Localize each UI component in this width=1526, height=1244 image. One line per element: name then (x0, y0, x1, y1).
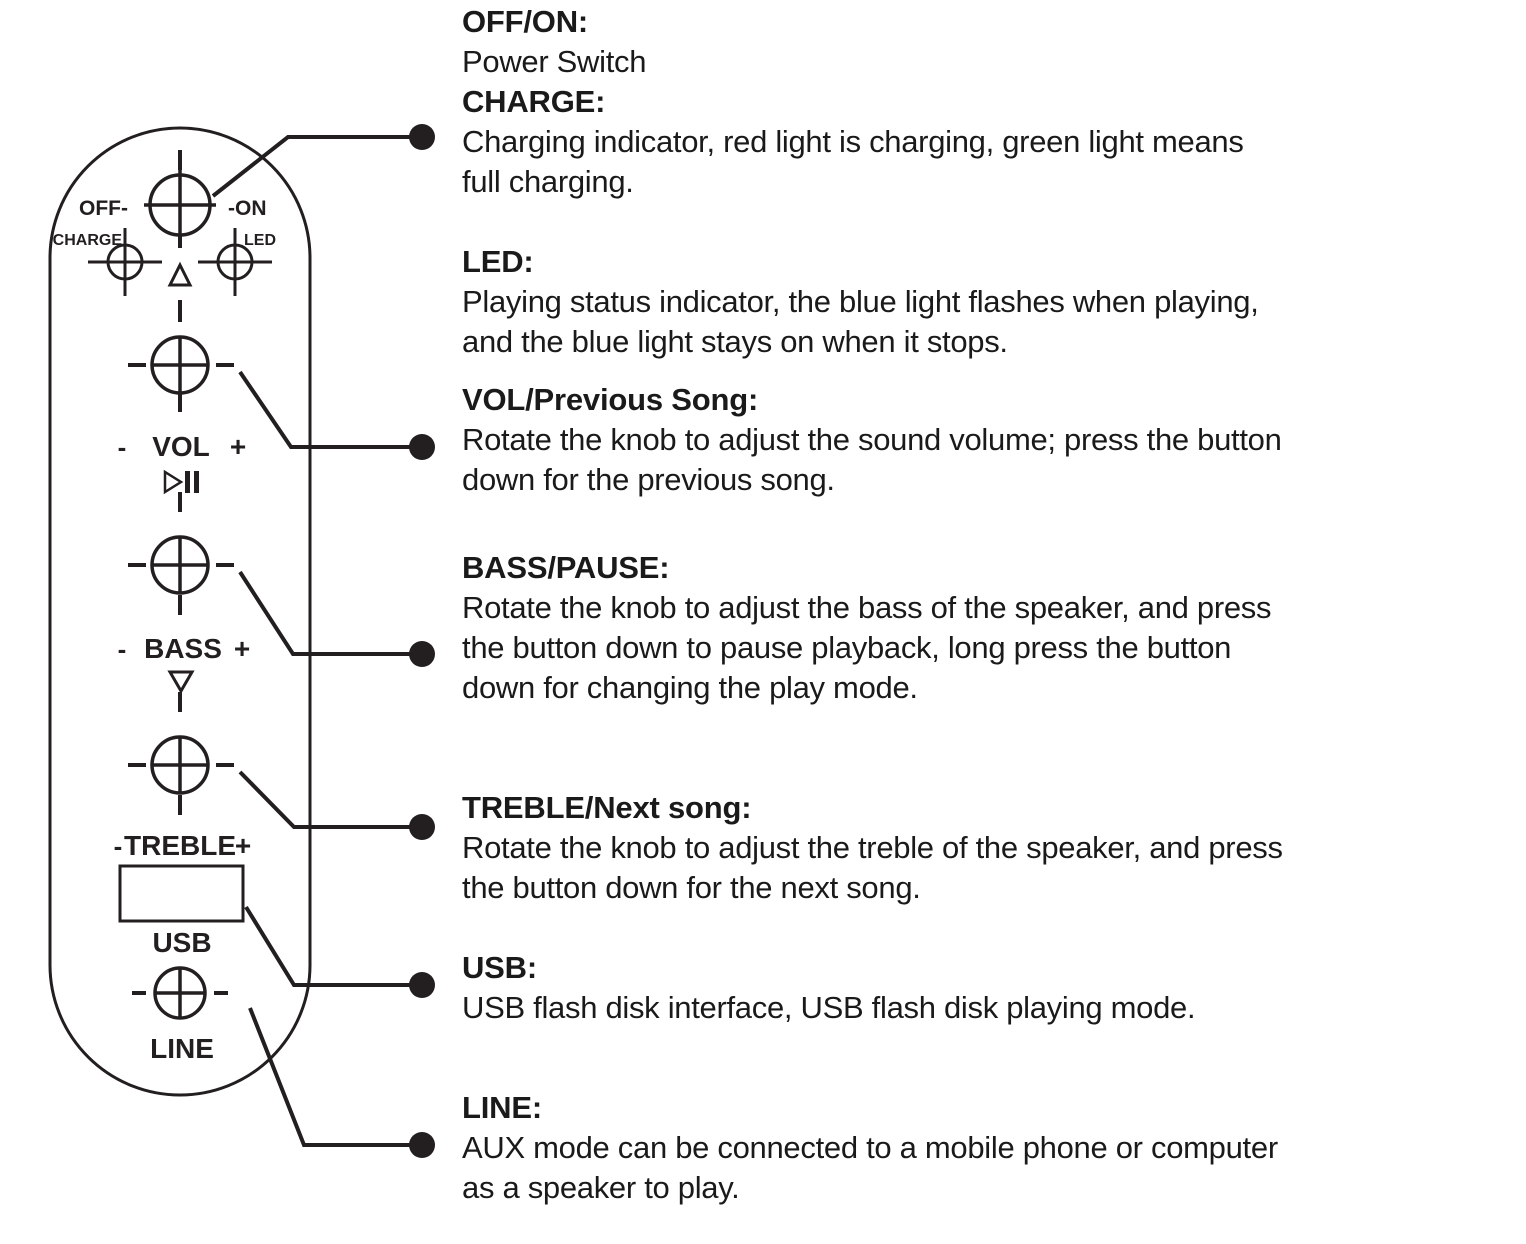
usb-port-icon[interactable] (120, 866, 243, 921)
callout-dot-line (409, 1132, 435, 1158)
callout-line-line-0: AUX mode can be connected to a mobile ph… (462, 1128, 1522, 1168)
callout-led-title: LED: (462, 242, 1522, 282)
callout-bass-line-1: the button down to pause playback, long … (462, 628, 1522, 668)
callout-dot-offon (409, 124, 435, 150)
panel-label-bass: BASS (144, 633, 222, 664)
panel-label-vol: VOL (152, 431, 210, 462)
callout-offon: OFF/ON: Power Switch (462, 2, 1522, 82)
callout-line: LINE: AUX mode can be connected to a mob… (462, 1088, 1522, 1208)
panel-label-vol-plus: + (230, 431, 246, 462)
callout-usb-body: USB flash disk interface, USB flash disk… (462, 988, 1522, 1028)
diagram-page: OFF- -ON CHARGE LED (0, 0, 1526, 1244)
callout-vol-body: Rotate the knob to adjust the sound volu… (462, 420, 1522, 500)
callout-dot-usb (409, 972, 435, 998)
panel-label-charge: CHARGE (53, 232, 123, 249)
callout-led-line-1: and the blue light stays on when it stop… (462, 322, 1522, 362)
callout-usb: USB: USB flash disk interface, USB flash… (462, 948, 1522, 1028)
callout-vol-line-1: down for the previous song. (462, 460, 1522, 500)
callout-bass-line-0: Rotate the knob to adjust the bass of th… (462, 588, 1522, 628)
callout-treble-body: Rotate the knob to adjust the treble of … (462, 828, 1522, 908)
callout-line-title: LINE: (462, 1088, 1522, 1128)
callout-bass-line-2: down for changing the play mode. (462, 668, 1522, 708)
callout-treble-line-1: the button down for the next song. (462, 868, 1522, 908)
panel-label-line: LINE (150, 1033, 214, 1064)
callout-dot-bass (409, 641, 435, 667)
callout-dot-treble (409, 814, 435, 840)
callout-treble-line-0: Rotate the knob to adjust the treble of … (462, 828, 1522, 868)
callout-usb-line-0: USB flash disk interface, USB flash disk… (462, 988, 1522, 1028)
panel-label-treble: TREBLE (124, 830, 236, 861)
callout-line-line-1: as a speaker to play. (462, 1168, 1522, 1208)
callout-treble-title: TREBLE/Next song: (462, 788, 1522, 828)
callout-offon-body: Power Switch (462, 42, 1522, 82)
callout-offon-line-0: Power Switch (462, 42, 1522, 82)
callout-vol-line-0: Rotate the knob to adjust the sound volu… (462, 420, 1522, 460)
callout-bass-body: Rotate the knob to adjust the bass of th… (462, 588, 1522, 708)
panel-label-treble-plus: + (235, 830, 251, 861)
callout-usb-title: USB: (462, 948, 1522, 988)
callout-vol-title: VOL/Previous Song: (462, 380, 1522, 420)
panel-label-bass-minus: - (118, 634, 127, 664)
callout-led-body: Playing status indicator, the blue light… (462, 282, 1522, 362)
callout-charge-line-0: Charging indicator, red light is chargin… (462, 122, 1522, 162)
callout-charge-line-1: full charging. (462, 162, 1522, 202)
callout-charge-body: Charging indicator, red light is chargin… (462, 122, 1522, 202)
callout-treble: TREBLE/Next song: Rotate the knob to adj… (462, 788, 1522, 908)
callout-line-body: AUX mode can be connected to a mobile ph… (462, 1128, 1522, 1208)
callout-dot-vol (409, 434, 435, 460)
callout-bass: BASS/PAUSE: Rotate the knob to adjust th… (462, 548, 1522, 708)
callout-led: LED: Playing status indicator, the blue … (462, 242, 1522, 362)
callout-bass-title: BASS/PAUSE: (462, 548, 1522, 588)
panel-label-usb: USB (152, 927, 211, 958)
callout-text-column: OFF/ON: Power Switch CHARGE: Charging in… (462, 0, 1526, 1244)
callout-charge: CHARGE: Charging indicator, red light is… (462, 82, 1522, 202)
callout-offon-title: OFF/ON: (462, 2, 1522, 42)
panel-label-on: -ON (228, 197, 267, 220)
panel-label-treble-minus: - (114, 831, 123, 861)
leader-dots (409, 124, 435, 1158)
callout-led-line-0: Playing status indicator, the blue light… (462, 282, 1522, 322)
callout-charge-title: CHARGE: (462, 82, 1522, 122)
speaker-control-panel-diagram: OFF- -ON CHARGE LED (0, 0, 460, 1244)
panel-label-vol-minus: - (118, 432, 127, 462)
panel-label-led: LED (244, 232, 276, 249)
callout-vol: VOL/Previous Song: Rotate the knob to ad… (462, 380, 1522, 500)
panel-label-off: OFF- (79, 197, 128, 220)
panel-label-bass-plus: + (234, 633, 250, 664)
